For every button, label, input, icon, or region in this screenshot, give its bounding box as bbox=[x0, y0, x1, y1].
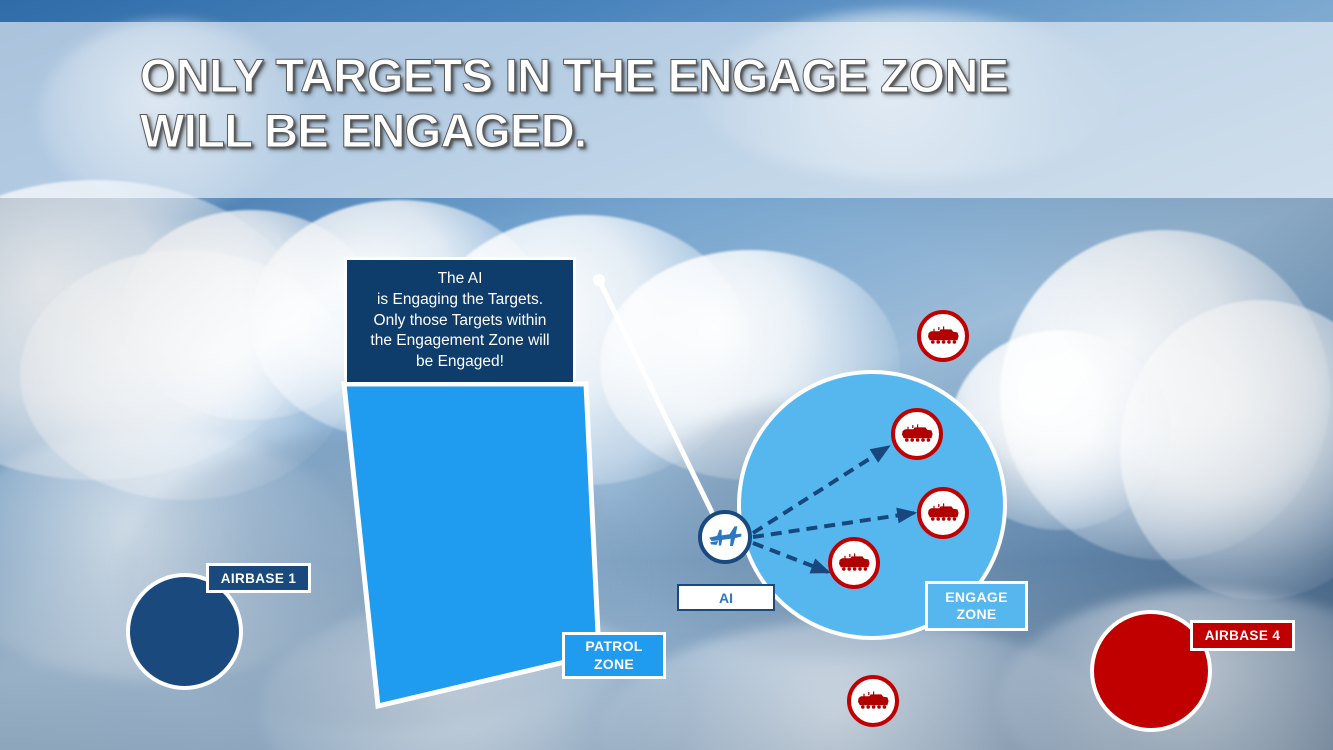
label-ai[interactable]: AI bbox=[677, 584, 775, 611]
page-title: ONLY TARGETS IN THE ENGAGE ZONE WILL BE … bbox=[140, 48, 1200, 159]
info-callout-box: The AI is Engaging the Targets. Only tho… bbox=[344, 257, 576, 385]
fighter-jet-icon bbox=[707, 523, 743, 551]
armored-vehicle-icon bbox=[925, 501, 961, 525]
target-marker-in-zone-1[interactable] bbox=[891, 408, 943, 460]
target-marker-in-zone-2[interactable] bbox=[917, 487, 969, 539]
label-airbase-1[interactable]: AIRBASE 1 bbox=[206, 563, 311, 593]
armored-vehicle-icon bbox=[855, 689, 891, 713]
label-airbase-4[interactable]: AIRBASE 4 bbox=[1190, 620, 1295, 651]
armored-vehicle-icon bbox=[836, 551, 872, 575]
label-engage-zone[interactable]: ENGAGE ZONE bbox=[925, 581, 1028, 631]
slide-canvas: ONLY TARGETS IN THE ENGAGE ZONE WILL BE … bbox=[0, 0, 1333, 750]
target-marker-outside-1[interactable] bbox=[917, 310, 969, 362]
armored-vehicle-icon bbox=[925, 324, 961, 348]
target-marker-outside-2[interactable] bbox=[847, 675, 899, 727]
ai-aircraft-marker[interactable] bbox=[698, 510, 752, 564]
label-patrol-zone[interactable]: PATROL ZONE bbox=[562, 632, 666, 679]
armored-vehicle-icon bbox=[899, 422, 935, 446]
target-marker-in-zone-3[interactable] bbox=[828, 537, 880, 589]
